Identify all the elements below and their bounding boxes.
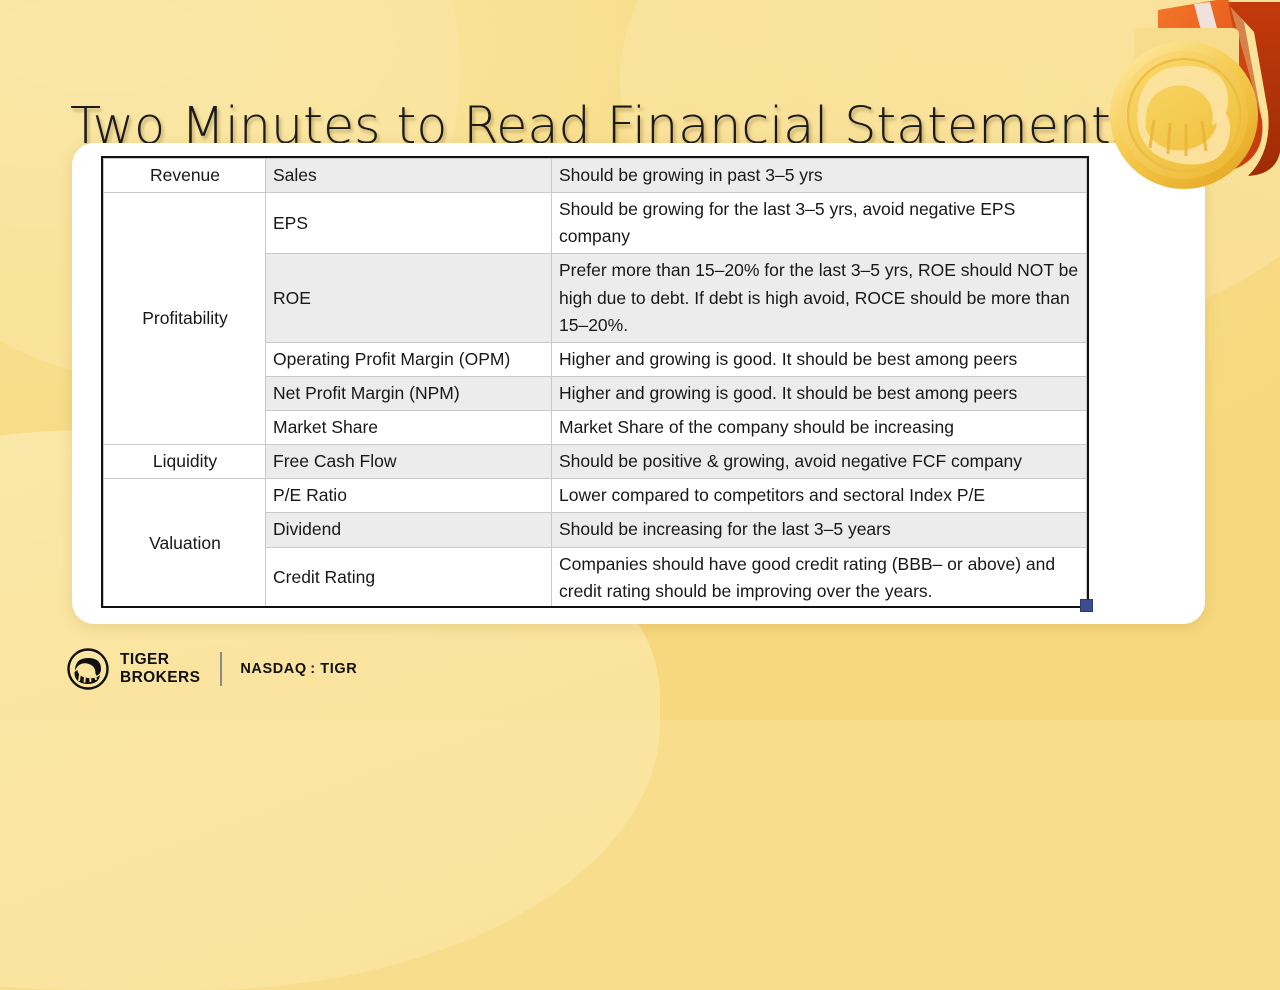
table-cell-metric: Free Cash Flow (266, 445, 552, 479)
table-row[interactable]: LiquidityFree Cash FlowShould be positiv… (104, 445, 1087, 479)
table-cell-description: Should be growing in past 3–5 yrs (552, 159, 1087, 193)
table-cell-metric: Market Share (266, 411, 552, 445)
table-cell-category: Valuation (104, 479, 266, 608)
table-row[interactable]: ProfitabilityEPSShould be growing for th… (104, 193, 1087, 254)
table-cell-description: Should be growing for the last 3–5 yrs, … (552, 193, 1087, 254)
metrics-table-element: RevenueSalesShould be growing in past 3–… (103, 158, 1087, 608)
table-row[interactable]: RevenueSalesShould be growing in past 3–… (104, 159, 1087, 193)
table-cell-description: Companies should have good credit rating… (552, 547, 1087, 608)
table-cell-category: Liquidity (104, 445, 266, 479)
metrics-table-body: RevenueSalesShould be growing in past 3–… (104, 159, 1087, 609)
table-row[interactable]: ValuationP/E RatioLower compared to comp… (104, 479, 1087, 513)
table-cell-metric: ROE (266, 254, 552, 342)
table-cell-metric: EPS (266, 193, 552, 254)
table-cell-description: Prefer more than 15–20% for the last 3–5… (552, 254, 1087, 342)
table-cell-metric: Sales (266, 159, 552, 193)
table-cell-description: Should be increasing for the last 3–5 ye… (552, 513, 1087, 547)
table-cell-description: Higher and growing is good. It should be… (552, 376, 1087, 410)
table-cell-category: Profitability (104, 193, 266, 445)
table-cell-metric: Dividend (266, 513, 552, 547)
table-cell-description: Higher and growing is good. It should be… (552, 342, 1087, 376)
footer: TIGER BROKERS NASDAQ : TIGR (66, 643, 357, 695)
brand-line-1: TIGER (120, 651, 200, 669)
tiger-brokers-logo-icon (66, 647, 110, 691)
table-cell-metric: P/E Ratio (266, 479, 552, 513)
table-cell-category: Revenue (104, 159, 266, 193)
table-cell-metric: Credit Rating (266, 547, 552, 608)
metrics-table[interactable]: RevenueSalesShould be growing in past 3–… (101, 156, 1089, 608)
brand-wordmark: TIGER BROKERS (120, 651, 200, 688)
ticker-label: NASDAQ : TIGR (240, 661, 357, 677)
table-cell-description: Market Share of the company should be in… (552, 411, 1087, 445)
table-cell-metric: Net Profit Margin (NPM) (266, 376, 552, 410)
table-cell-description: Should be positive & growing, avoid nega… (552, 445, 1087, 479)
brand-line-2: BROKERS (120, 669, 200, 687)
table-resize-handle[interactable] (1080, 599, 1093, 612)
table-cell-description: Lower compared to competitors and sector… (552, 479, 1087, 513)
footer-divider (220, 652, 222, 686)
table-cell-metric: Operating Profit Margin (OPM) (266, 342, 552, 376)
